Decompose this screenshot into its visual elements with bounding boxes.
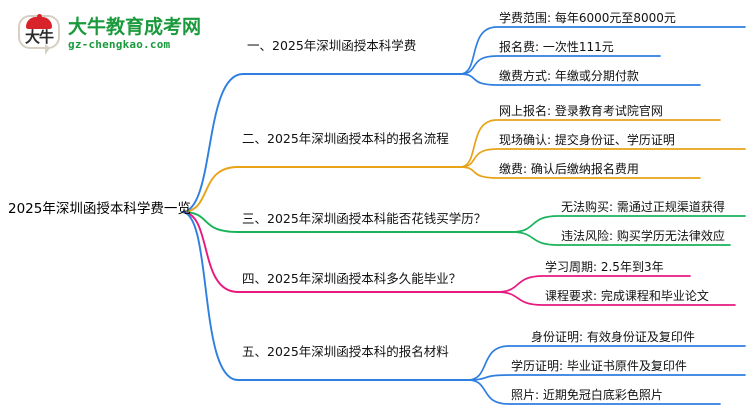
mindmap-leaf-5-3[interactable]: 照片: 近期免冠白底彩色照片 [511, 387, 663, 403]
mindmap-leaf-1-2[interactable]: 报名费: 一次性111元 [499, 39, 614, 55]
logo-glyph-text: 大牛 [18, 26, 60, 48]
mindmap-leaf-1-1[interactable]: 学费范围: 每年6000元至8000元 [499, 10, 676, 26]
mindmap-leaf-5-1[interactable]: 身份证明: 有效身份证及复印件 [531, 329, 695, 345]
logo-mark-icon: 大牛 [18, 14, 62, 54]
site-logo: 大牛 大牛教育成考网 gz-chengkao.com [18, 10, 228, 58]
mindmap-branch-5[interactable]: 五、2025年深圳函授本科的报名材料 [242, 344, 449, 360]
mindmap-leaf-3-2[interactable]: 违法风险: 购买学历无法律效应 [561, 228, 725, 244]
mindmap-branch-4[interactable]: 四、2025年深圳函授本科多久能毕业？ [242, 271, 461, 287]
mindmap-leaf-2-2[interactable]: 现场确认: 提交身份证、学历证明 [499, 132, 675, 148]
mindmap-leaf-1-3[interactable]: 缴费方式: 年缴或分期付款 [499, 68, 639, 84]
mindmap-branch-3[interactable]: 三、2025年深圳函授本科能否花钱买学历？ [242, 211, 486, 227]
logo-subtitle-url: gz-chengkao.com [68, 38, 201, 52]
logo-title: 大牛教育成考网 [68, 16, 201, 38]
logo-text-block: 大牛教育成考网 gz-chengkao.com [68, 16, 201, 52]
mindmap-root-node[interactable]: 2025年深圳函授本科学费一览 [8, 201, 191, 217]
mindmap-leaf-5-2[interactable]: 学历证明: 毕业证书原件及复印件 [511, 358, 687, 374]
red-cap-knob-icon [37, 14, 42, 19]
mindmap-branch-2[interactable]: 二、2025年深圳函授本科的报名流程 [242, 131, 449, 147]
mindmap-leaf-4-2[interactable]: 课程要求: 完成课程和毕业论文 [545, 288, 709, 304]
mindmap-leaf-2-1[interactable]: 网上报名: 登录教育考试院官网 [499, 103, 663, 119]
mindmap-branch-1[interactable]: 一、2025年深圳函授本科学费 [247, 38, 416, 54]
mindmap-leaf-4-1[interactable]: 学习周期: 2.5年到3年 [545, 259, 664, 275]
mindmap-leaf-2-3[interactable]: 缴费: 确认后缴纳报名费用 [499, 161, 639, 177]
mindmap-leaf-3-1[interactable]: 无法购买: 需通过正规渠道获得 [561, 199, 725, 215]
